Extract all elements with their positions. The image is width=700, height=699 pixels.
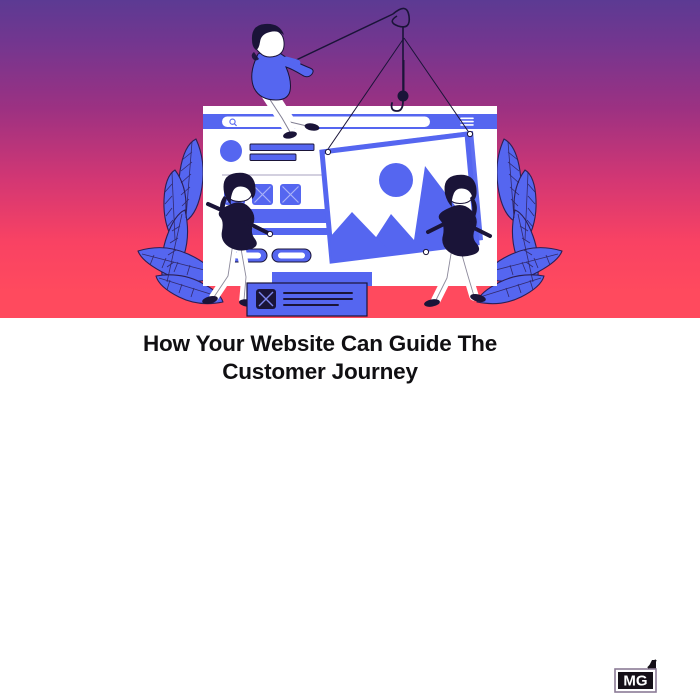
page-title-line-2: Customer Journey	[70, 358, 570, 386]
notification-card	[247, 283, 367, 316]
fishing-rod-and-hook	[292, 8, 409, 111]
title-footer: How Your Website Can Guide The Customer …	[0, 318, 700, 400]
page-title: How Your Website Can Guide The Customer …	[70, 330, 570, 386]
weight-ball	[398, 91, 409, 102]
hamburger-menu-icon	[456, 114, 478, 129]
hero-illustration	[0, 0, 700, 318]
hand	[267, 231, 272, 236]
blog-header-banner: How Your Website Can Guide The Customer …	[0, 0, 700, 400]
mg-logo[interactable]: MG	[608, 657, 664, 699]
shirt	[252, 50, 313, 100]
notification-thumb	[256, 289, 276, 309]
sun-shape	[379, 163, 413, 197]
mg-logo-text: MG	[623, 673, 647, 690]
page-title-line-1: How Your Website Can Guide The	[70, 330, 570, 358]
search-input	[222, 117, 430, 128]
illustration-artwork	[0, 0, 700, 318]
avatar	[220, 140, 242, 162]
reel-loop	[392, 8, 409, 26]
